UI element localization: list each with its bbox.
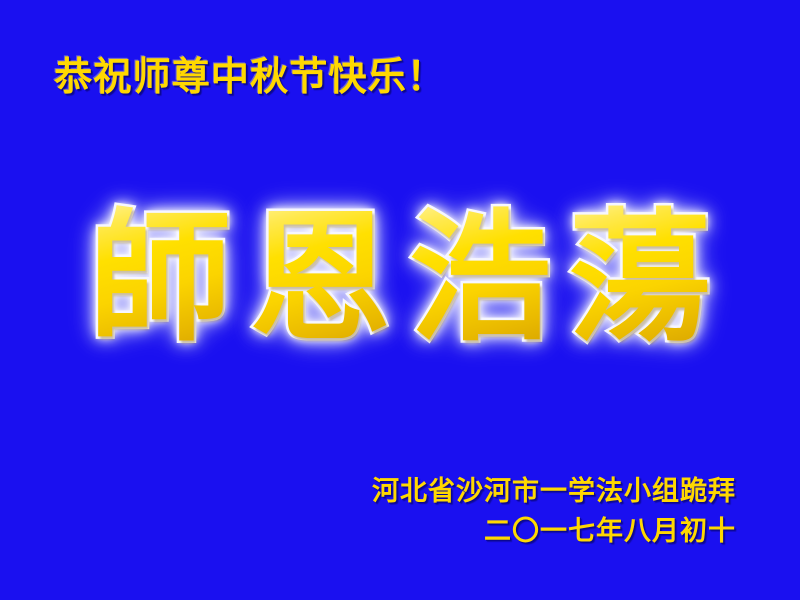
main-title-text: 師 師 恩 恩 浩 浩 蕩 蕩 — [89, 204, 711, 354]
signature-block: 河北省沙河市一学法小组跪拜 二〇一七年八月初十 — [372, 472, 736, 552]
main-title: 師 師 恩 恩 浩 浩 蕩 蕩 — [0, 196, 800, 361]
title-character-2: 恩 恩 — [249, 204, 391, 354]
title-character-4-face: 蕩 — [569, 196, 711, 361]
title-character-2-face: 恩 — [249, 196, 391, 361]
title-character-1: 師 師 — [89, 204, 231, 354]
signature-date: 二〇一七年八月初十 — [372, 512, 736, 552]
greeting-card: 恭祝师尊中秋节快乐！ 師 師 恩 恩 浩 浩 蕩 蕩 河北省沙河市一学法小组跪拜… — [0, 0, 800, 600]
title-character-3-face: 浩 — [409, 196, 551, 361]
signature-author: 河北省沙河市一学法小组跪拜 — [372, 472, 736, 512]
title-character-4: 蕩 蕩 — [569, 204, 711, 354]
greeting-headline: 恭祝师尊中秋节快乐！ — [54, 56, 446, 100]
title-character-1-face: 師 — [89, 196, 231, 361]
title-character-3: 浩 浩 — [409, 204, 551, 354]
